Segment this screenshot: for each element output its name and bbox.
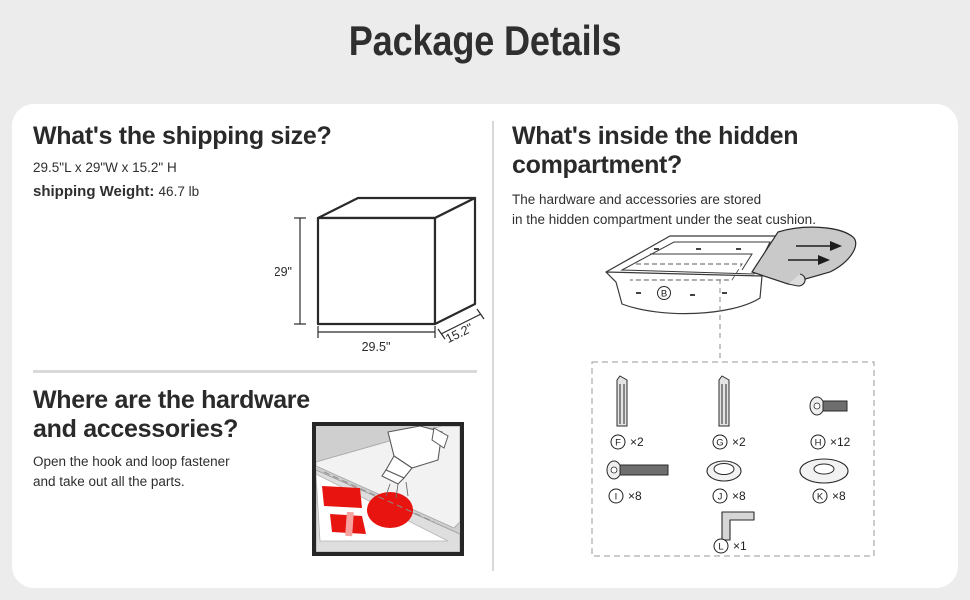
hook-and-loop-illustration xyxy=(312,422,464,556)
part-code-f: F xyxy=(615,438,621,449)
shipping-size-heading: What's the shipping size? xyxy=(33,122,463,151)
part-item-k: K ×8 xyxy=(800,459,848,503)
part-item-l: L ×1 xyxy=(714,512,754,553)
page-title: Package Details xyxy=(68,17,902,65)
part-code-l: L xyxy=(718,542,723,553)
part-qty-g: ×2 xyxy=(732,435,746,449)
part-code-j: J xyxy=(718,492,723,503)
hardware-location-body: Open the hook and loop fastener and take… xyxy=(33,452,333,493)
shipping-size-section: What's the shipping size? 29.5"L x 29"W … xyxy=(33,122,463,202)
box-height-label: 29" xyxy=(275,265,292,279)
hidden-compartment-heading: What's inside the hidden compartment? xyxy=(512,122,942,180)
hardware-location-heading: Where are the hardware and accessories? xyxy=(33,386,333,444)
part-item-h: H ×12 xyxy=(810,397,851,449)
shipping-box-diagram: 29" 29.5" 15.2" xyxy=(275,192,505,357)
shipping-dimensions: 29.5"L x 29"W x 15.2" H xyxy=(33,158,463,178)
part-qty-f: ×2 xyxy=(630,435,644,449)
part-item-i: I ×8 xyxy=(607,461,668,503)
seat-compartment-diagram: B xyxy=(592,224,862,334)
parts-list-box: F ×2 G ×2 xyxy=(572,344,882,554)
horizontal-divider xyxy=(33,370,477,373)
part-item-j: J ×8 xyxy=(707,461,746,503)
part-code-k: K xyxy=(817,492,824,503)
shipping-weight-value: 46.7 lb xyxy=(159,184,200,199)
part-qty-k: ×8 xyxy=(832,489,846,503)
part-qty-h: ×12 xyxy=(830,435,851,449)
part-qty-i: ×8 xyxy=(628,489,642,503)
hidden-heading-line-1: What's inside the hidden xyxy=(512,122,942,151)
part-code-h: H xyxy=(815,438,822,449)
box-width-label: 29.5" xyxy=(362,340,391,354)
part-code-g: G xyxy=(716,438,723,449)
hardware-body-line-2: and take out all the parts. xyxy=(33,472,333,492)
part-item-f: F ×2 xyxy=(611,376,644,449)
part-qty-l: ×1 xyxy=(733,539,747,553)
shipping-weight-label: shipping Weight: xyxy=(33,183,154,200)
hardware-location-section: Where are the hardware and accessories? … xyxy=(33,386,333,493)
hidden-compartment-section: What's inside the hidden compartment? Th… xyxy=(512,122,942,231)
seat-panel-label: B xyxy=(661,289,667,300)
hardware-body-line-1: Open the hook and loop fastener xyxy=(33,452,333,472)
box-depth-label: 15.2" xyxy=(443,321,475,346)
package-details-page: Package Details What's the shipping size… xyxy=(0,0,970,600)
hardware-heading-line-2: and accessories? xyxy=(33,415,333,444)
part-item-g: G ×2 xyxy=(713,376,746,449)
parts-dashed-border xyxy=(592,362,874,556)
hidden-body-line-1: The hardware and accessories are stored xyxy=(512,190,942,210)
part-qty-j: ×8 xyxy=(732,489,746,503)
part-code-i: I xyxy=(615,492,618,503)
hidden-heading-line-2: compartment? xyxy=(512,151,942,180)
details-card: What's the shipping size? 29.5"L x 29"W … xyxy=(12,104,958,588)
hardware-heading-line-1: Where are the hardware xyxy=(33,386,333,415)
